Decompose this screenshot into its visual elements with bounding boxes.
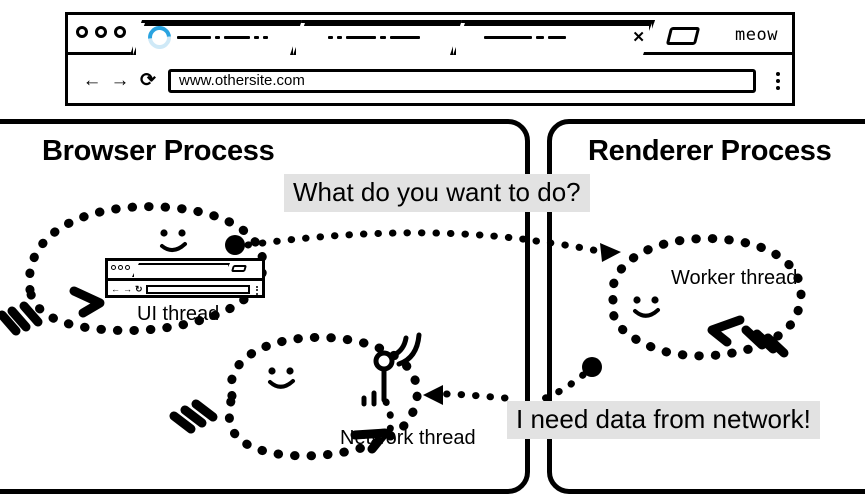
back-icon[interactable]: ← [78, 70, 106, 92]
browser-menu-icon[interactable] [776, 69, 780, 93]
renderer-process-title: Renderer Process [588, 135, 831, 168]
mini-address-bar-icon [146, 285, 250, 294]
browser-brand-label: meow [735, 25, 778, 45]
mini-back-icon: ← [111, 285, 120, 294]
browser-tab-3[interactable]: ✕ [450, 20, 655, 55]
browser-tabstrip: ✕ ✕ [68, 15, 792, 55]
tab-title-placeholder [177, 36, 302, 39]
tab-title-placeholder [328, 36, 462, 39]
message-bubble-i-need-data-from-network: I need data from network! [507, 401, 820, 439]
tab-title-placeholder [484, 36, 622, 39]
address-bar-input[interactable]: www.othersite.com [168, 69, 756, 93]
tab-close-icon[interactable]: ✕ [632, 30, 645, 45]
window-control-close-icon[interactable] [76, 26, 88, 38]
message-bubble-what-do-you-want-to-do: What do you want to do? [284, 174, 590, 212]
address-bar-value: www.othersite.com [179, 72, 305, 89]
ui-thread-label: UI thread [137, 303, 219, 326]
mini-menu-icon [256, 284, 258, 296]
mini-new-tab-icon [231, 265, 247, 272]
browser-toolbar: ← → ⟳ www.othersite.com [68, 55, 792, 106]
mini-forward-icon: → [123, 285, 132, 294]
mini-reload-icon: ↻ [135, 285, 143, 294]
window-control-maximize-icon[interactable] [114, 26, 126, 38]
worker-thread-label: Worker thread [671, 267, 797, 290]
new-tab-button[interactable] [666, 27, 700, 45]
window-controls[interactable] [76, 26, 126, 38]
network-thread-label: Network thread [340, 427, 476, 450]
browser-process-title: Browser Process [42, 135, 274, 168]
mini-tab-icon [132, 263, 230, 277]
browser-window: ✕ ✕ [65, 12, 795, 106]
mini-window-controls-icon [111, 265, 130, 270]
window-control-minimize-icon[interactable] [95, 26, 107, 38]
forward-icon[interactable]: → [106, 70, 134, 92]
ui-thread-browser-icon: ← → ↻ [105, 258, 265, 298]
reload-icon[interactable]: ⟳ [134, 69, 162, 92]
tab-loading-spinner-icon [143, 21, 175, 53]
diagram-canvas: ✕ ✕ [0, 0, 865, 504]
